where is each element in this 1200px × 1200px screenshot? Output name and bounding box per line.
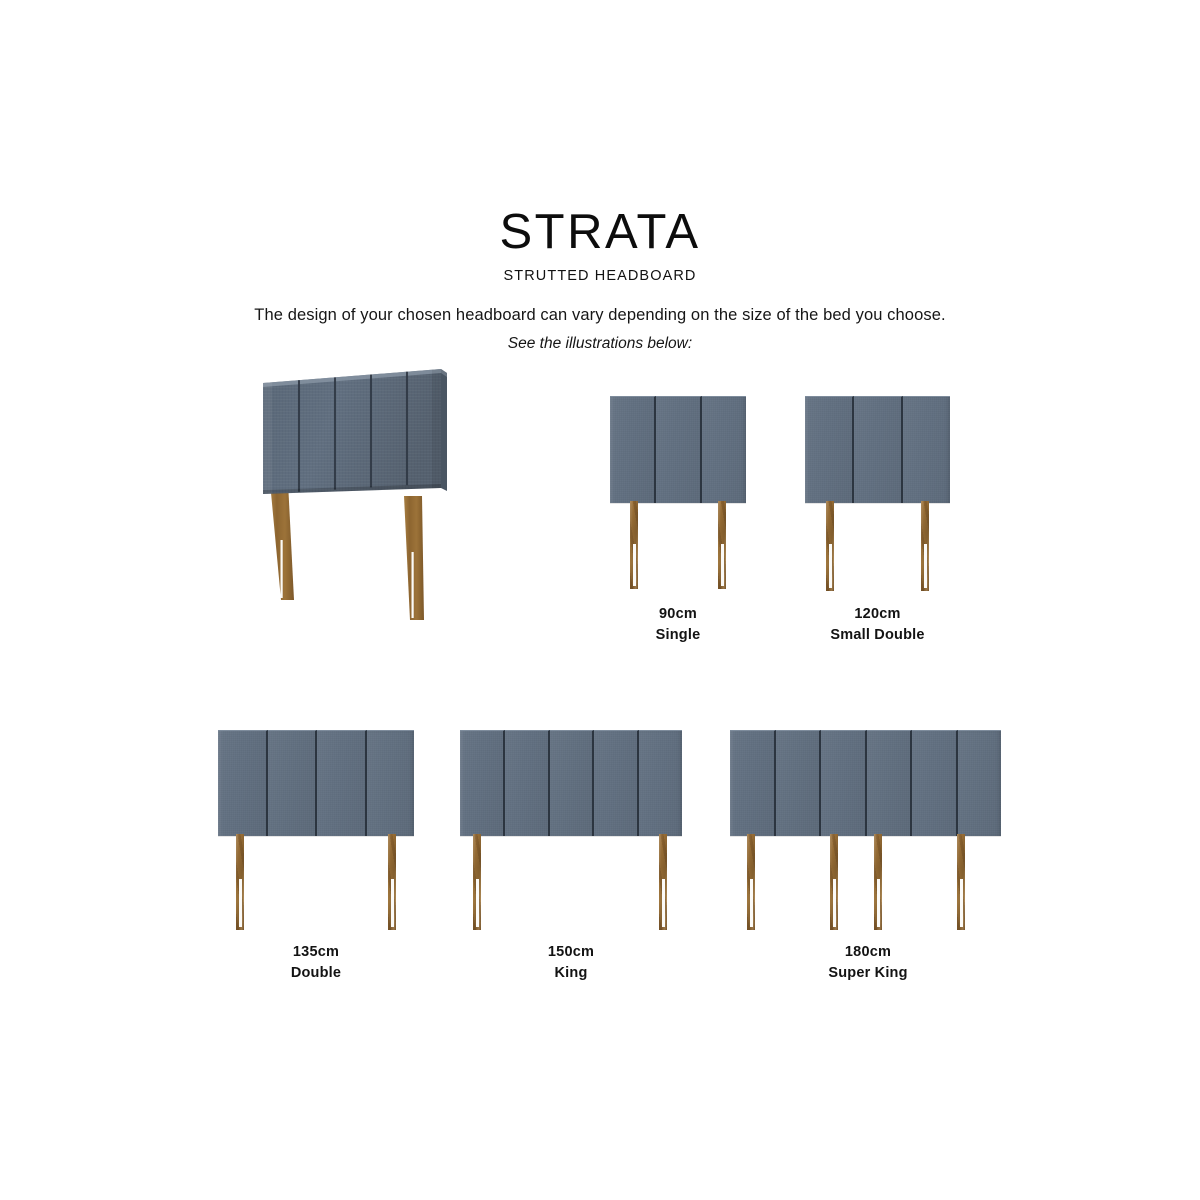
strut xyxy=(921,501,929,591)
strata-headboard-perspective xyxy=(0,0,1200,1200)
strut xyxy=(630,501,638,589)
figure-single-90: 90cm Single xyxy=(610,396,746,646)
board-super-king-180 xyxy=(730,730,1001,836)
headboard-size-guide-page: STRATA STRUTTED HEADBOARD The design of … xyxy=(0,0,1200,1200)
caption-name: Double xyxy=(291,963,341,984)
caption-double-135: 135cm Double xyxy=(291,942,341,984)
panel xyxy=(867,730,913,836)
strut xyxy=(826,501,834,591)
caption-name: King xyxy=(548,963,594,984)
panel xyxy=(317,730,367,836)
caption-size: 90cm xyxy=(656,604,701,625)
panel xyxy=(805,396,854,503)
panel xyxy=(268,730,318,836)
caption-name: Single xyxy=(656,625,701,646)
panel xyxy=(958,730,1002,836)
caption-name: Super King xyxy=(828,963,907,984)
panel xyxy=(702,396,746,503)
panel xyxy=(460,730,505,836)
hero-board-face xyxy=(263,369,441,494)
caption-king-150: 150cm King xyxy=(548,942,594,984)
strut xyxy=(236,834,244,930)
figure-small-double-120: 120cm Small Double xyxy=(805,396,950,646)
board-small-double-120 xyxy=(805,396,950,503)
panel xyxy=(912,730,958,836)
strut xyxy=(874,834,882,930)
board-single-90 xyxy=(610,396,746,503)
caption-small-double-120: 120cm Small Double xyxy=(830,604,924,646)
panel xyxy=(903,396,950,503)
hero-board-side xyxy=(441,369,447,491)
panel xyxy=(594,730,639,836)
strut xyxy=(718,501,726,589)
strut xyxy=(957,834,965,930)
board-king-150 xyxy=(460,730,682,836)
strut xyxy=(747,834,755,930)
strut xyxy=(830,834,838,930)
panel xyxy=(854,396,903,503)
hero-strut-left xyxy=(270,482,294,600)
caption-single-90: 90cm Single xyxy=(656,604,701,646)
panel xyxy=(821,730,867,836)
caption-size: 135cm xyxy=(291,942,341,963)
strut xyxy=(473,834,481,930)
strut xyxy=(388,834,396,930)
hero-strut-right xyxy=(404,496,424,620)
panel xyxy=(550,730,595,836)
panel xyxy=(218,730,268,836)
caption-super-king-180: 180cm Super King xyxy=(828,942,907,984)
panel xyxy=(505,730,550,836)
board-double-135 xyxy=(218,730,414,836)
caption-name: Small Double xyxy=(830,625,924,646)
panel xyxy=(730,730,776,836)
caption-size: 150cm xyxy=(548,942,594,963)
panel xyxy=(776,730,822,836)
figure-super-king-180: 180cm Super King xyxy=(730,730,1001,990)
figure-king-150: 150cm King xyxy=(460,730,682,990)
caption-size: 120cm xyxy=(830,604,924,625)
caption-size: 180cm xyxy=(828,942,907,963)
panel xyxy=(610,396,656,503)
strut xyxy=(659,834,667,930)
panel xyxy=(656,396,702,503)
panel xyxy=(367,730,415,836)
panel xyxy=(639,730,682,836)
figure-double-135: 135cm Double xyxy=(218,730,414,990)
